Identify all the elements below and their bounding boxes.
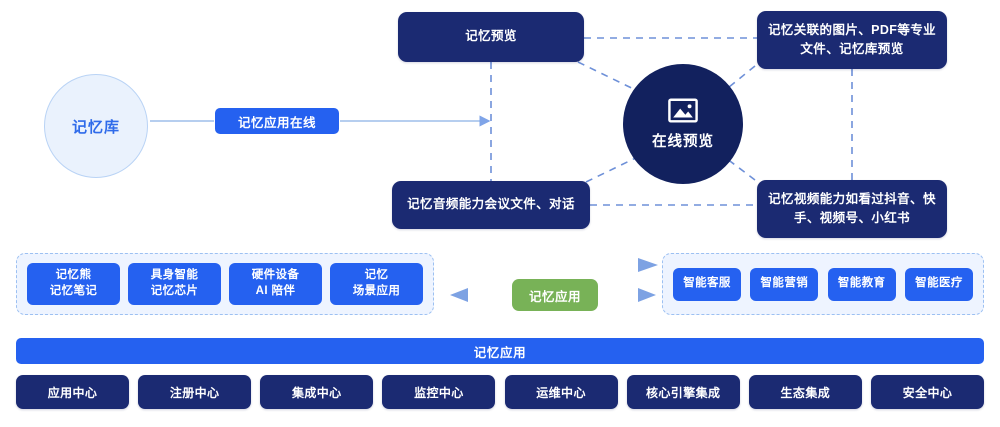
center-monitoring-label: 监控中心 bbox=[414, 384, 464, 401]
tag-memory-bear[interactable]: 记忆熊 记忆笔记 bbox=[27, 263, 120, 305]
center-ecosystem-integration-label: 生态集成 bbox=[781, 384, 831, 401]
center-operations-label: 运维中心 bbox=[536, 384, 586, 401]
image-icon bbox=[668, 98, 698, 123]
tag-smart-healthcare[interactable]: 智能医疗 bbox=[905, 268, 973, 301]
center-app-label: 应用中心 bbox=[48, 384, 98, 401]
tag-smart-customer-service[interactable]: 智能客服 bbox=[673, 268, 741, 301]
center-security[interactable]: 安全中心 bbox=[871, 375, 984, 409]
memory-app-online-pill[interactable]: 记忆应用在线 bbox=[215, 108, 339, 134]
center-integration-label: 集成中心 bbox=[292, 384, 342, 401]
node-memory-files[interactable]: 记忆关联的图片、PDF等专业文件、记忆库预览 bbox=[757, 11, 947, 69]
center-registry[interactable]: 注册中心 bbox=[138, 375, 251, 409]
node-memory-files-label: 记忆关联的图片、PDF等专业文件、记忆库预览 bbox=[767, 21, 937, 60]
diagram-canvas: 记忆库 记忆应用在线 记忆预览 记忆关联的图片、PDF等专业文件、记忆库预览 记… bbox=[0, 0, 1000, 427]
center-operations[interactable]: 运维中心 bbox=[505, 375, 618, 409]
tag-hardware-device[interactable]: 硬件设备 AI 陪伴 bbox=[229, 263, 322, 305]
tag-memory-scenario[interactable]: 记忆 场景应用 bbox=[330, 263, 423, 305]
left-scenario-group: 记忆熊 记忆笔记 具身智能 记忆芯片 硬件设备 AI 陪伴 记忆 场景应用 bbox=[16, 253, 434, 315]
memory-application-bar[interactable]: 记忆应用 bbox=[16, 338, 984, 364]
tag-smart-marketing[interactable]: 智能营销 bbox=[750, 268, 818, 301]
center-app[interactable]: 应用中心 bbox=[16, 375, 129, 409]
node-memory-audio-label: 记忆音频能力会议文件、对话 bbox=[407, 195, 575, 214]
memory-application-center-box[interactable]: 记忆应用 bbox=[512, 279, 598, 311]
tag-smart-education[interactable]: 智能教育 bbox=[828, 268, 896, 301]
center-core-engine-integration-label: 核心引擎集成 bbox=[646, 384, 720, 401]
tag-hardware-device-text: 硬件设备 AI 陪伴 bbox=[252, 268, 300, 299]
memory-library-node[interactable]: 记忆库 bbox=[44, 74, 148, 178]
memory-app-online-label: 记忆应用在线 bbox=[238, 112, 316, 131]
node-memory-video[interactable]: 记忆视频能力如看过抖音、快手、视频号、小红书 bbox=[757, 180, 947, 238]
node-memory-video-label: 记忆视频能力如看过抖音、快手、视频号、小红书 bbox=[767, 190, 937, 229]
tag-embodied-ai[interactable]: 具身智能 记忆芯片 bbox=[128, 263, 221, 305]
tag-embodied-ai-text: 具身智能 记忆芯片 bbox=[151, 268, 199, 299]
center-button-row: 应用中心 注册中心 集成中心 监控中心 运维中心 核心引擎集成 生态集成 安全中… bbox=[16, 375, 984, 409]
memory-application-bar-label: 记忆应用 bbox=[474, 342, 526, 361]
node-memory-preview[interactable]: 记忆预览 bbox=[398, 12, 584, 62]
tag-memory-scenario-text: 记忆 场景应用 bbox=[353, 268, 401, 299]
node-memory-audio[interactable]: 记忆音频能力会议文件、对话 bbox=[392, 181, 590, 229]
center-integration[interactable]: 集成中心 bbox=[260, 375, 373, 409]
center-ecosystem-integration[interactable]: 生态集成 bbox=[749, 375, 862, 409]
center-core-engine-integration[interactable]: 核心引擎集成 bbox=[627, 375, 740, 409]
center-monitoring[interactable]: 监控中心 bbox=[382, 375, 495, 409]
node-memory-preview-label: 记忆预览 bbox=[465, 27, 517, 46]
tag-memory-bear-text: 记忆熊 记忆笔记 bbox=[50, 268, 98, 299]
memory-application-center-label: 记忆应用 bbox=[529, 286, 581, 305]
center-security-label: 安全中心 bbox=[903, 384, 953, 401]
online-preview-hub-label: 在线预览 bbox=[652, 130, 714, 151]
tag-smart-customer-service-label: 智能客服 bbox=[683, 276, 731, 292]
right-industry-group: 智能客服 智能营销 智能教育 智能医疗 bbox=[662, 253, 984, 315]
tag-smart-healthcare-label: 智能医疗 bbox=[915, 276, 963, 292]
memory-library-label: 记忆库 bbox=[72, 116, 120, 137]
tag-smart-education-label: 智能教育 bbox=[838, 276, 886, 292]
tag-smart-marketing-label: 智能营销 bbox=[761, 276, 809, 292]
center-registry-label: 注册中心 bbox=[170, 384, 220, 401]
online-preview-hub[interactable]: 在线预览 bbox=[623, 64, 743, 184]
